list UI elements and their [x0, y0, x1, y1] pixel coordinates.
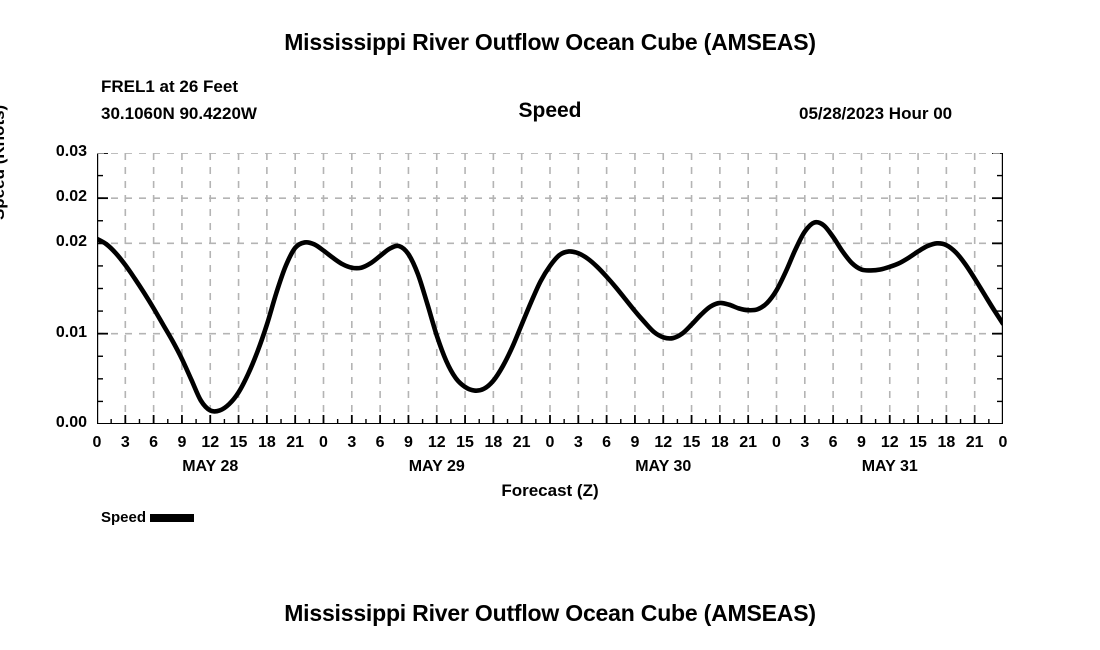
legend-swatch-speed [150, 514, 194, 522]
y-tick-label: 0.02 [37, 188, 87, 206]
x-tick-label: 18 [934, 434, 958, 452]
day-label: MAY 29 [377, 458, 497, 476]
x-tick-label: 0 [85, 434, 109, 452]
chart-legend: Speed [101, 509, 194, 526]
x-tick-label: 0 [765, 434, 789, 452]
x-tick-label: 0 [538, 434, 562, 452]
x-tick-label: 18 [481, 434, 505, 452]
x-tick-label: 15 [680, 434, 704, 452]
x-axis-title: Forecast (Z) [0, 481, 1100, 501]
x-tick-label: 12 [425, 434, 449, 452]
x-tick-label: 21 [736, 434, 760, 452]
x-tick-label: 9 [623, 434, 647, 452]
y-tick-label: 0.01 [37, 324, 87, 342]
page-title-top: Mississippi River Outflow Ocean Cube (AM… [0, 29, 1100, 56]
x-tick-label: 21 [283, 434, 307, 452]
plot-area [97, 153, 1003, 424]
day-label: MAY 31 [830, 458, 950, 476]
x-tick-label: 15 [227, 434, 251, 452]
y-tick-label: 0.00 [37, 414, 87, 432]
y-axis-title: Speed (Knots) [0, 105, 9, 220]
x-tick-label: 12 [878, 434, 902, 452]
station-label: FREL1 at 26 Feet [101, 77, 238, 97]
x-tick-label: 12 [198, 434, 222, 452]
legend-label-speed: Speed [101, 509, 146, 526]
x-tick-label: 15 [453, 434, 477, 452]
vertical-gridlines [125, 153, 974, 424]
x-tick-label: 0 [312, 434, 336, 452]
speed-line-chart [97, 153, 1003, 424]
chart-subtitle: Speed [0, 99, 1100, 123]
day-label: MAY 28 [150, 458, 270, 476]
x-tick-label: 15 [906, 434, 930, 452]
x-tick-label: 6 [595, 434, 619, 452]
x-tick-label: 18 [255, 434, 279, 452]
x-tick-label: 12 [651, 434, 675, 452]
page-title-bottom: Mississippi River Outflow Ocean Cube (AM… [0, 600, 1100, 627]
y-tick-label: 0.03 [37, 143, 87, 161]
x-tick-label: 3 [793, 434, 817, 452]
x-tick-label: 21 [510, 434, 534, 452]
x-tick-label: 3 [113, 434, 137, 452]
x-tick-label: 0 [991, 434, 1015, 452]
x-tick-label: 21 [963, 434, 987, 452]
x-tick-label: 9 [396, 434, 420, 452]
x-tick-label: 3 [566, 434, 590, 452]
y-tick-label: 0.02 [37, 233, 87, 251]
x-tick-label: 6 [368, 434, 392, 452]
x-tick-label: 6 [142, 434, 166, 452]
x-tick-label: 18 [708, 434, 732, 452]
day-label: MAY 30 [603, 458, 723, 476]
x-tick-label: 3 [340, 434, 364, 452]
chart-page: Mississippi River Outflow Ocean Cube (AM… [0, 0, 1100, 650]
x-tick-label: 6 [821, 434, 845, 452]
x-tick-label: 9 [849, 434, 873, 452]
x-tick-label: 9 [170, 434, 194, 452]
